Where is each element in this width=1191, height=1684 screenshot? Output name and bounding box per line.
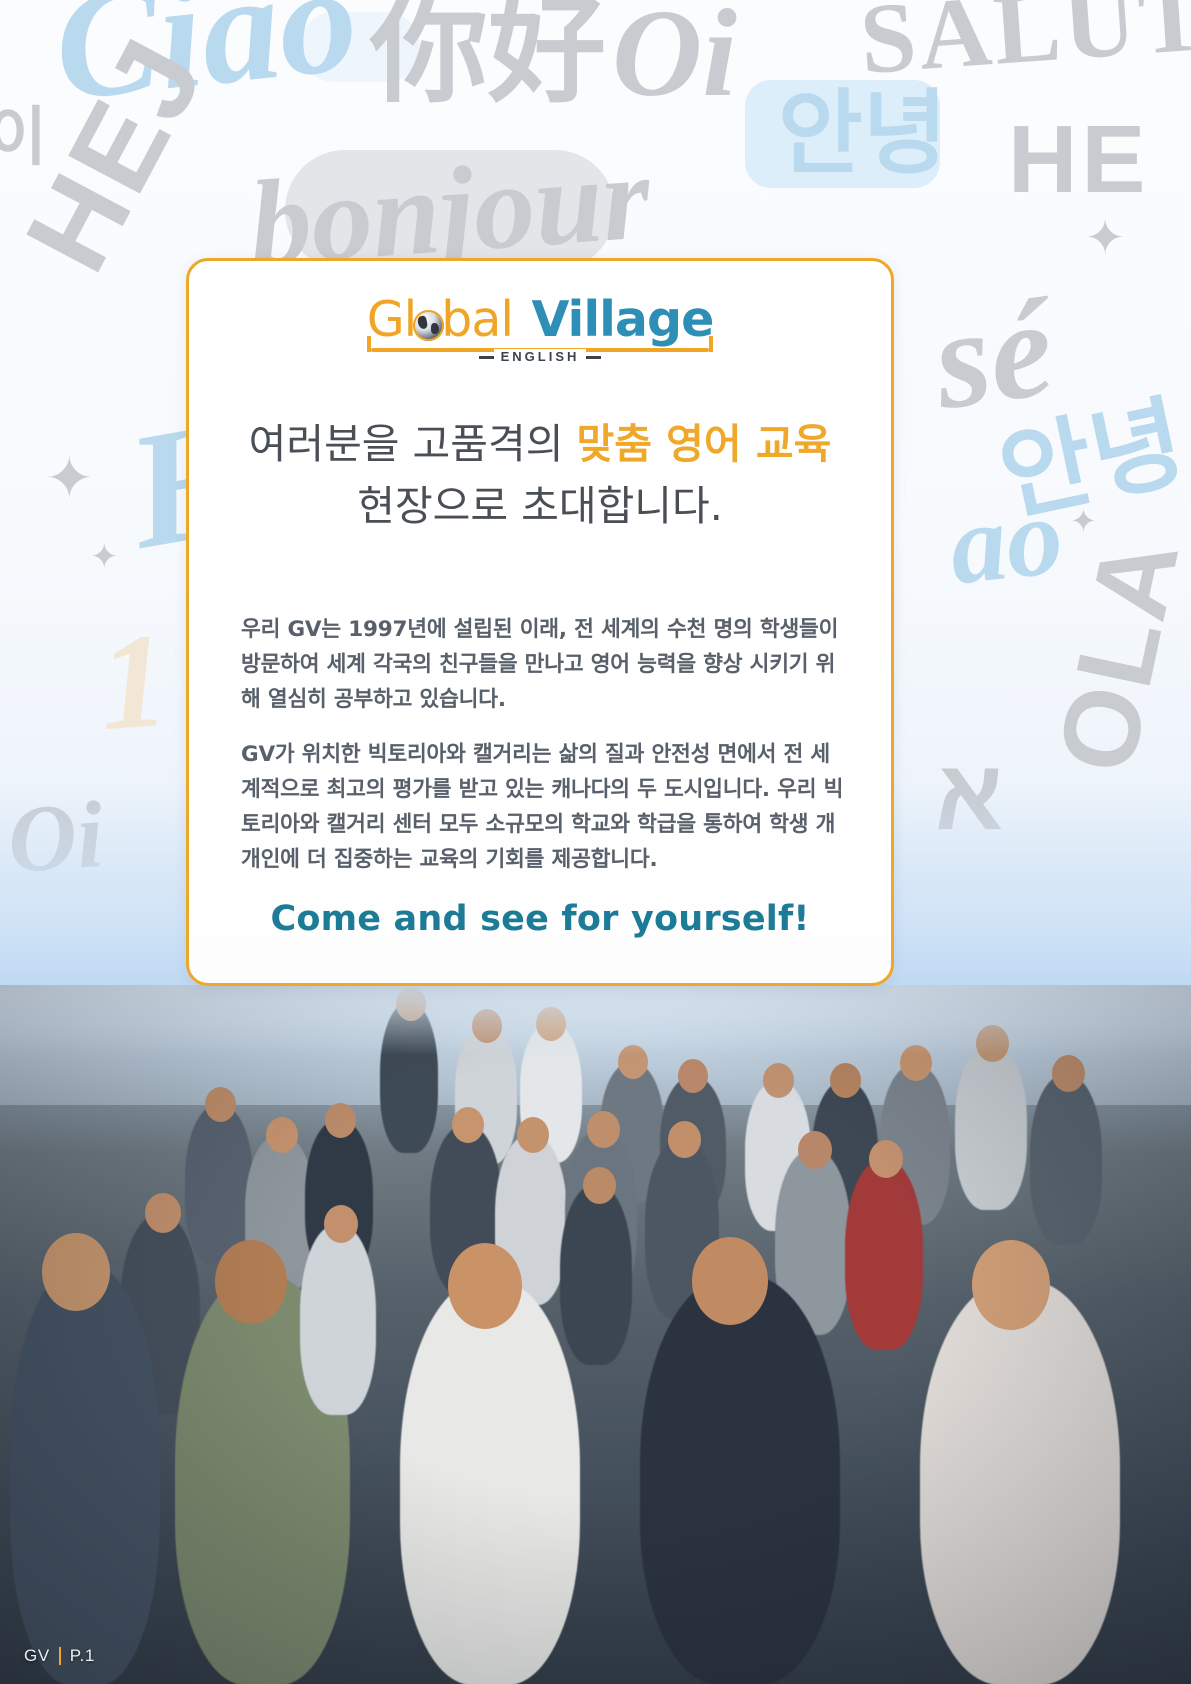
- body-copy: 우리 GV는 1997년에 설립된 이래, 전 세계의 수천 명의 학생들이 방…: [241, 613, 845, 878]
- footer-divider: [59, 1647, 61, 1665]
- paragraph: GV가 위치한 빅토리아와 캘거리는 삶의 질과 안전성 면에서 전 세계적으로…: [241, 738, 845, 877]
- footer-page-number: P.1: [70, 1646, 95, 1666]
- globe-icon: [413, 310, 444, 341]
- intro-card: Glbal Village ENGLISH 여러분을 고품격의 맞춤 영어 교육…: [186, 258, 894, 986]
- logo-word-global-end: bal: [441, 291, 513, 348]
- greeting-word: Oi: [612, 0, 737, 117]
- page-title: 여러분을 고품격의 맞춤 영어 교육 현장으로 초대합니다.: [219, 413, 861, 538]
- greeting-word: 你好: [370, 0, 606, 110]
- greeting-word: 안녕: [778, 88, 947, 180]
- headline-line1-accent: 맞춤 영어 교육: [576, 420, 831, 468]
- photo-vignette: [0, 985, 1191, 1684]
- sparkle-icon: ✦: [1070, 505, 1097, 537]
- greeting-word: א: [935, 745, 1003, 845]
- sparkle-icon: ✦: [45, 450, 94, 508]
- headline-line2: 현장으로 초대합니다.: [357, 482, 723, 530]
- tagline: Come and see for yourself!: [189, 899, 891, 939]
- footer: GV P.1: [24, 1646, 95, 1666]
- greeting-word: ao: [944, 479, 1067, 602]
- greeting-word: Oi: [5, 787, 106, 888]
- greeting-word: SALUT: [857, 0, 1191, 90]
- paragraph: 우리 GV는 1997년에 설립된 이래, 전 세계의 수천 명의 학생들이 방…: [241, 613, 845, 717]
- sparkle-icon: ✦: [1085, 215, 1125, 263]
- brand-logo: Glbal Village ENGLISH: [189, 295, 891, 344]
- greeting-word: 1: [95, 613, 172, 752]
- greeting-word: 이: [0, 105, 47, 169]
- sparkle-icon: ✦: [90, 540, 119, 574]
- greeting-word: HE: [1008, 112, 1149, 208]
- greeting-word: sé: [926, 278, 1061, 433]
- footer-brand: GV: [24, 1646, 50, 1666]
- logo-word-global-start: Gl: [367, 291, 417, 348]
- logo-subtitle: ENGLISH: [367, 348, 714, 366]
- brochure-page: Ciao 你好 Oi SALUT 안녕 HE HEJ 이 bonjour H s…: [0, 0, 1191, 1684]
- logo-word-village: Village: [531, 291, 713, 348]
- headline-line1-plain: 여러분을 고품격의: [249, 420, 577, 468]
- group-photo: [0, 985, 1191, 1684]
